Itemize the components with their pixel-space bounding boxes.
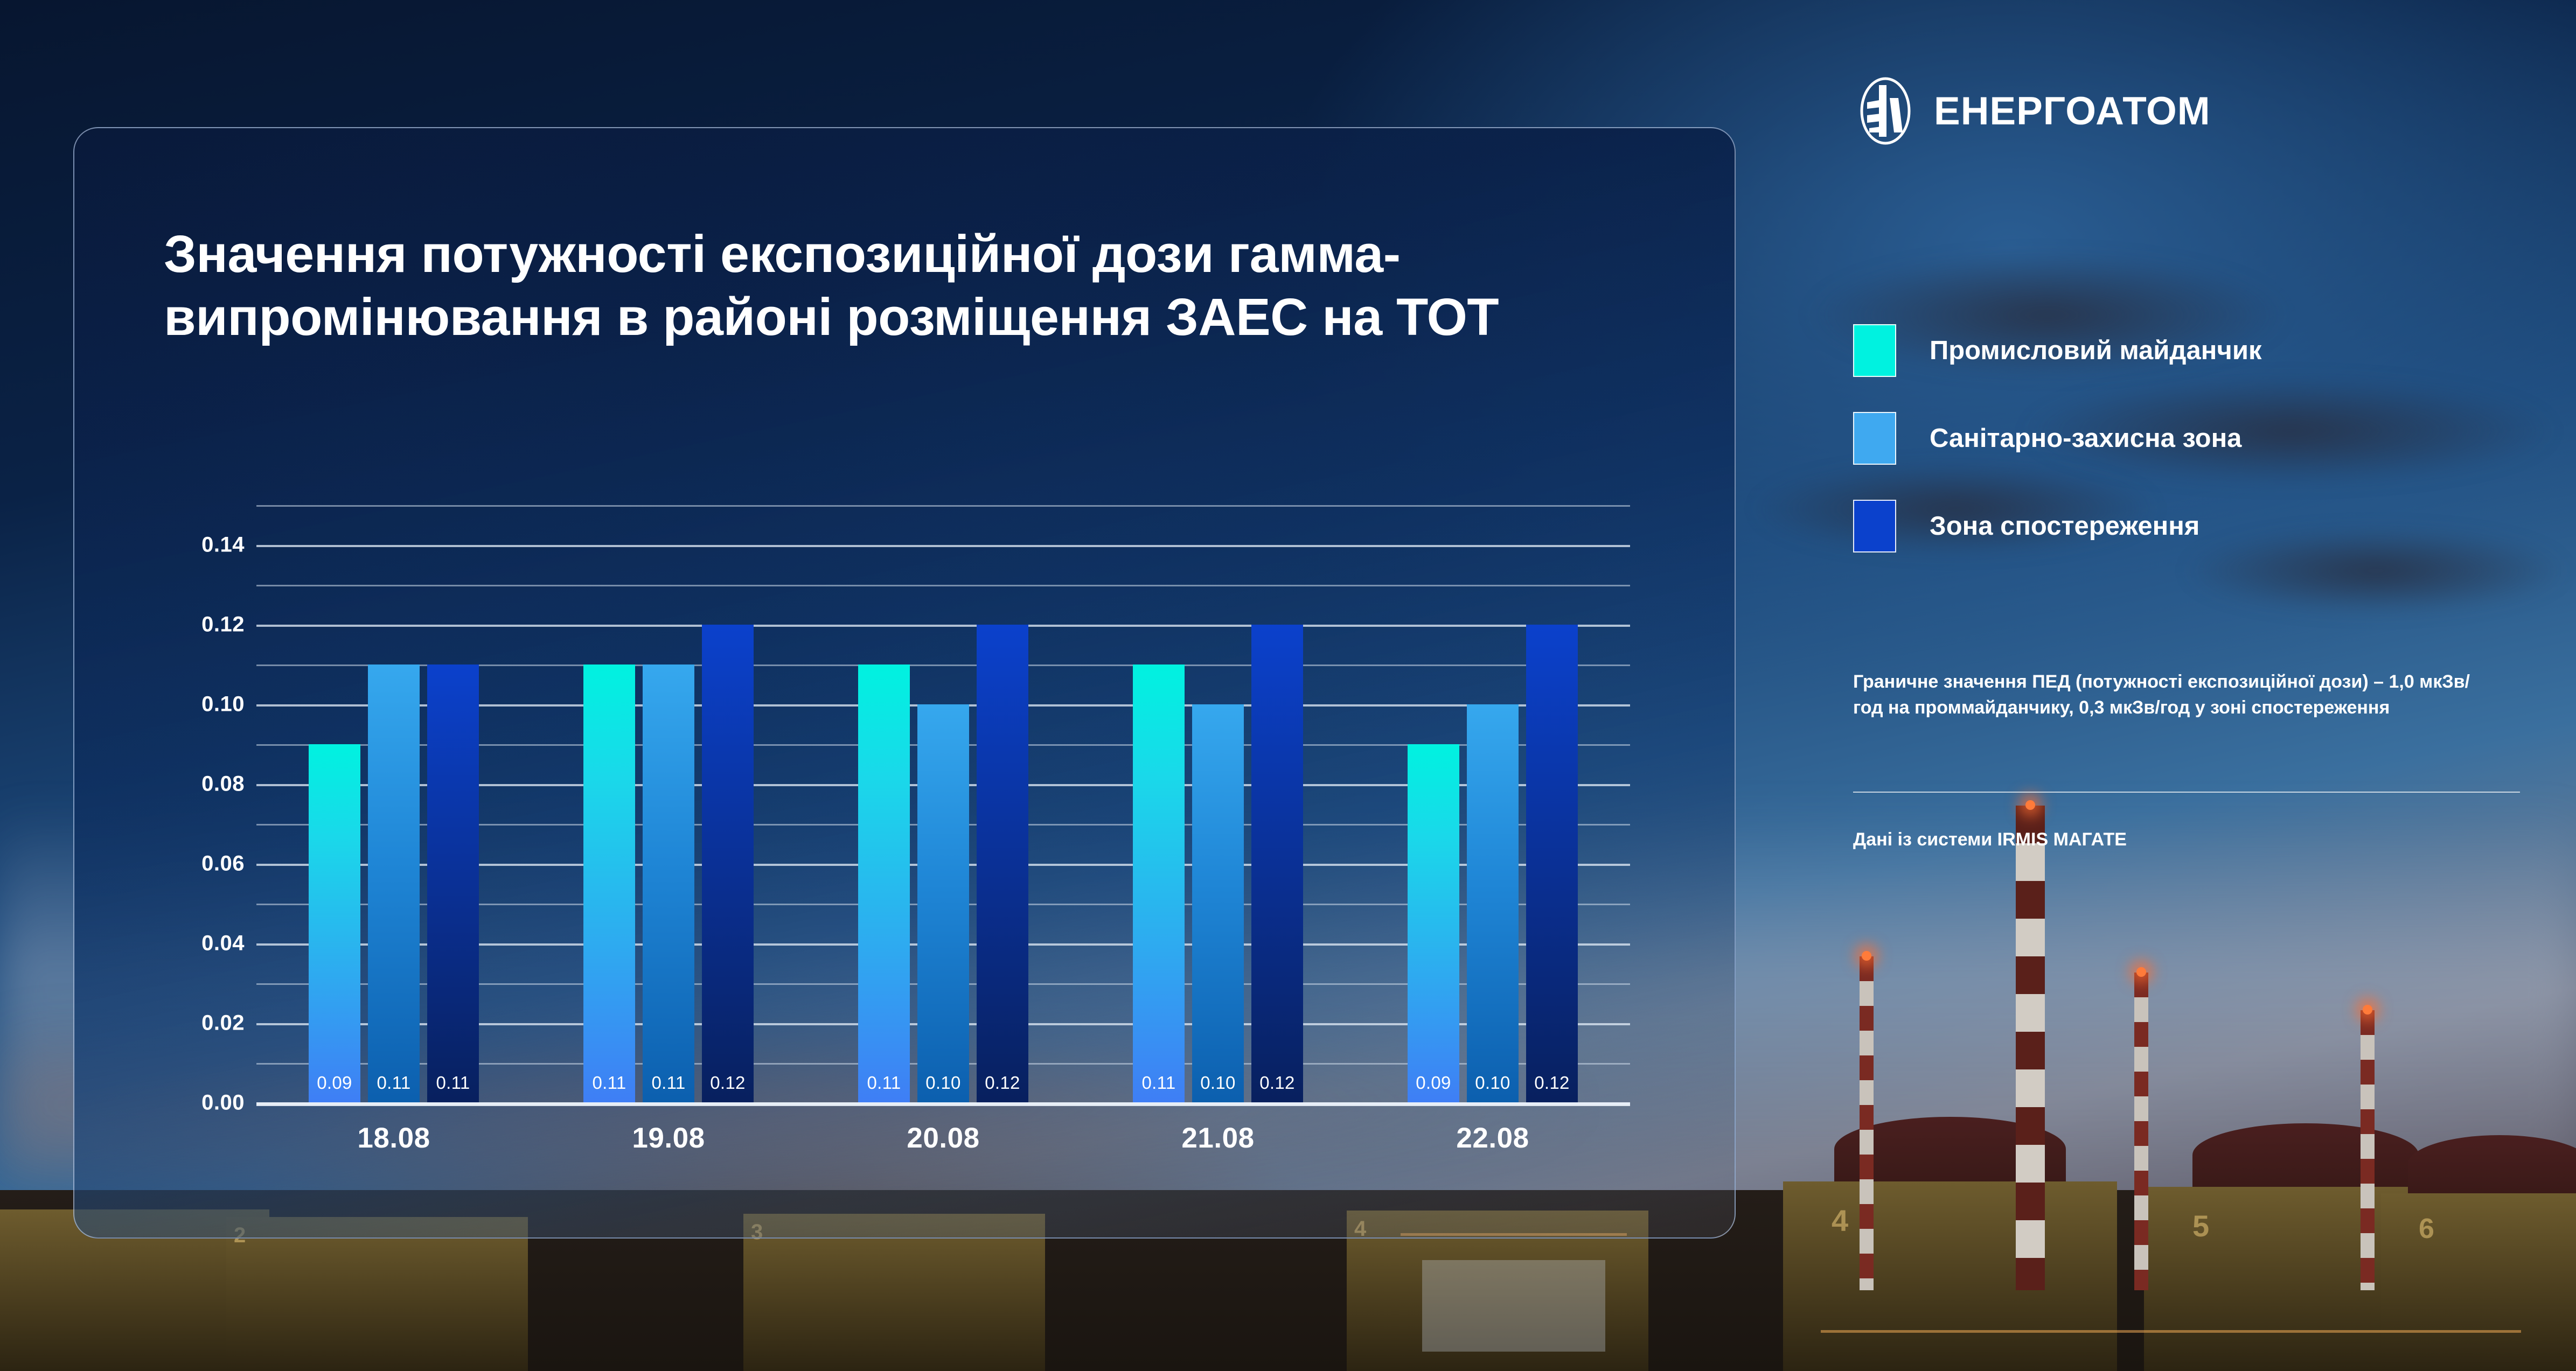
bar-value-label: 0.11 — [867, 1073, 901, 1093]
legend-label: Промисловий майданчик — [1930, 335, 2261, 366]
bar-group: 0.110.110.12 — [531, 505, 806, 1103]
legend-label: Зона спостереження — [1930, 511, 2199, 541]
y-tick-label: 0.12 — [201, 613, 245, 637]
bar[interactable]: 0.11 — [643, 664, 694, 1103]
bar[interactable]: 0.11 — [858, 664, 910, 1103]
y-tick-label: 0.10 — [201, 693, 245, 717]
bar-value-label: 0.11 — [377, 1073, 411, 1093]
bar[interactable]: 0.09 — [1408, 744, 1459, 1103]
divider — [1853, 792, 2520, 793]
bar-value-label: 0.11 — [652, 1073, 686, 1093]
x-tick-label: 20.08 — [806, 1122, 1081, 1170]
brand-name: ЕНЕРГОАТОМ — [1934, 89, 2211, 134]
data-source-note: Дані із системи IRMIS МАГАТЕ — [1853, 829, 2494, 850]
page-title: Значення потужності експозиційної дози г… — [164, 222, 1564, 349]
reactor-building: 2 — [226, 1217, 528, 1371]
y-axis-labels: 0.000.020.040.060.080.100.120.14 — [164, 505, 245, 1103]
bar-value-label: 0.12 — [1534, 1073, 1569, 1093]
bar[interactable]: 0.11 — [583, 664, 635, 1103]
bar-value-label: 0.12 — [1259, 1073, 1294, 1093]
bar-value-label: 0.12 — [710, 1073, 745, 1093]
legend-color-swatch — [1853, 500, 1896, 552]
x-tick-label: 22.08 — [1355, 1122, 1630, 1170]
bar[interactable]: 0.12 — [1526, 625, 1578, 1103]
bar-chart: 0.000.020.040.060.080.100.120.14 0.090.1… — [164, 505, 1683, 1227]
bar[interactable]: 0.12 — [1251, 625, 1303, 1103]
y-tick-label: 0.08 — [201, 772, 245, 796]
bar-value-label: 0.11 — [1142, 1073, 1176, 1093]
bar[interactable]: 0.12 — [702, 625, 754, 1103]
infographic-card: Значення потужності експозиційної дози г… — [73, 127, 1736, 1239]
bar-value-label: 0.12 — [985, 1073, 1020, 1093]
brand-logo: ЕНЕРГОАТОМ — [1851, 76, 2211, 145]
bar[interactable]: 0.09 — [309, 744, 360, 1103]
bar[interactable]: 0.10 — [917, 704, 969, 1103]
bar-value-label: 0.10 — [1200, 1073, 1235, 1093]
legend-item[interactable]: Санітарно-захисна зона — [1853, 404, 2553, 472]
limit-value-note: Граничне значення ПЕД (потужності експоз… — [1853, 669, 2494, 721]
legend-item[interactable]: Зона спостереження — [1853, 492, 2553, 560]
bar-groups: 0.090.110.110.110.110.120.110.100.120.11… — [256, 505, 1630, 1103]
bar[interactable]: 0.11 — [1133, 664, 1185, 1103]
energoatom-ea-monogram-icon — [1851, 76, 1920, 145]
y-tick-label: 0.14 — [201, 533, 245, 557]
bar-value-label: 0.10 — [925, 1073, 960, 1093]
bar-value-label: 0.10 — [1475, 1073, 1510, 1093]
x-axis-line — [256, 1102, 1630, 1106]
building-window — [1422, 1260, 1605, 1352]
chart-legend: Промисловий майданчикСанітарно-захисна з… — [1853, 317, 2553, 580]
bar-group: 0.090.110.11 — [256, 505, 531, 1103]
bar[interactable]: 0.12 — [977, 625, 1028, 1103]
bar[interactable]: 0.11 — [427, 664, 479, 1103]
bar-value-label: 0.09 — [317, 1073, 352, 1093]
bar-group: 0.110.100.12 — [1081, 505, 1355, 1103]
bar-group: 0.110.100.12 — [806, 505, 1081, 1103]
legend-label: Санітарно-захисна зона — [1930, 423, 2241, 453]
legend-item[interactable]: Промисловий майданчик — [1853, 317, 2553, 384]
legend-color-swatch — [1853, 412, 1896, 465]
y-tick-label: 0.06 — [201, 852, 245, 876]
x-tick-label: 19.08 — [531, 1122, 806, 1170]
x-axis-labels: 18.0819.0820.0821.0822.08 — [256, 1122, 1630, 1170]
y-tick-label: 0.02 — [201, 1011, 245, 1036]
x-tick-label: 18.08 — [256, 1122, 531, 1170]
bar-group: 0.090.100.12 — [1355, 505, 1630, 1103]
legend-color-swatch — [1853, 324, 1896, 377]
bar-value-label: 0.11 — [436, 1073, 470, 1093]
plot-area: 0.090.110.110.110.110.120.110.100.120.11… — [256, 505, 1630, 1103]
bar-value-label: 0.09 — [1416, 1073, 1451, 1093]
bar[interactable]: 0.11 — [368, 664, 420, 1103]
y-tick-label: 0.04 — [201, 932, 245, 956]
side-panel: ЕНЕРГОАТОМ Промисловий майданчикСанітарн… — [1832, 0, 2576, 1371]
bar[interactable]: 0.10 — [1192, 704, 1244, 1103]
bar-value-label: 0.11 — [593, 1073, 626, 1093]
bar[interactable]: 0.10 — [1467, 704, 1519, 1103]
y-tick-label: 0.00 — [201, 1091, 245, 1115]
x-tick-label: 21.08 — [1081, 1122, 1355, 1170]
